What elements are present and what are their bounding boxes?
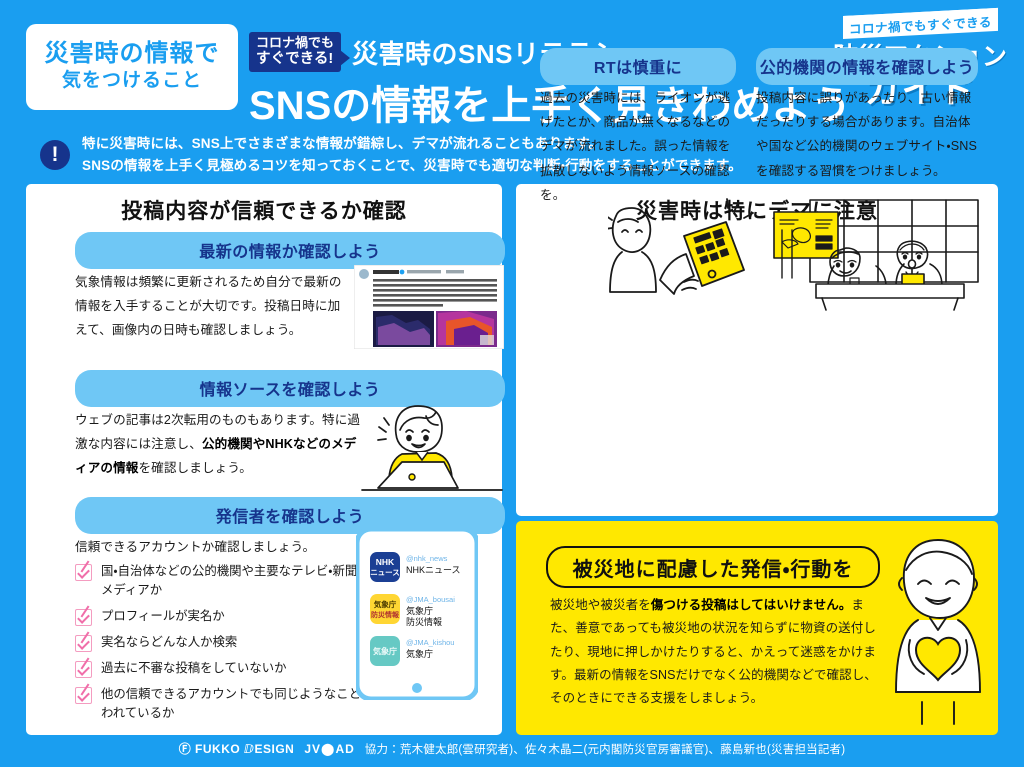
svg-text:@nhk_news: @nhk_news xyxy=(406,554,448,563)
checkbox-checked-icon[interactable] xyxy=(75,661,92,678)
sender-checklist: 国・自治体などの公的機関や主要なテレビ・新聞などのメディアか プロフィールが実名… xyxy=(75,562,395,729)
svg-text:防災情報: 防災情報 xyxy=(406,616,442,627)
svg-text:ニュース: ニュース xyxy=(370,568,400,577)
left-panel-title: 投稿内容が信頼できるか確認 xyxy=(26,184,502,225)
svg-text:@JMA_bousai: @JMA_bousai xyxy=(406,595,455,604)
svg-text:気象庁: 気象庁 xyxy=(406,648,433,659)
header-badge-line2: 気をつけること xyxy=(62,69,202,94)
checklist-item-label: 国・自治体などの公的機関や主要なテレビ・新聞などのメディアか xyxy=(101,562,395,600)
svg-text:NHKニュース: NHKニュース xyxy=(406,565,461,575)
person-at-laptop-illustration xyxy=(356,392,508,496)
yellow-panel-heading: 被災地に配慮した発信・行動を xyxy=(546,546,880,588)
yellow-panel-text: 被災地や被災者を傷つける投稿はしてはいけません。また、善意であっても被災地の状況… xyxy=(550,594,880,710)
tv-news-studio-illustration xyxy=(772,196,988,314)
section-lead-sender: 信頼できるアカウントか確認しましょう。 xyxy=(75,535,395,559)
checklist-item-label: 過去に不審な投稿をしていないか xyxy=(101,659,287,678)
tweet-screenshot xyxy=(354,265,504,349)
checkbox-checked-icon[interactable] xyxy=(75,564,92,581)
header-badge: 災害時の情報で 気をつけること xyxy=(26,24,238,110)
section-text-rt: 過去の災害時には、ライオンが逃げたとか、商品が無くなるなどのデマが流れました。誤… xyxy=(540,86,736,207)
yellow-text-part2: また、善意であっても被災地の状況を知らずに物資の送付したり、現地に押しかけたりす… xyxy=(550,598,877,705)
checklist-item[interactable]: 過去に不審な投稿をしていないか xyxy=(75,659,395,678)
checklist-item[interactable]: 国・自治体などの公的機関や主要なテレビ・新聞などのメディアか xyxy=(75,562,395,600)
person-with-heart-illustration xyxy=(888,532,988,728)
section-heading-rt: RTは慎重に xyxy=(540,48,736,85)
svg-text:NHK: NHK xyxy=(376,557,395,567)
section-heading-official: 公的機関の情報を確認しよう xyxy=(756,48,978,85)
svg-text:気象庁: 気象庁 xyxy=(406,605,433,616)
phone-accounts-mockup: NHK ニュース @nhk_news NHKニュース 気象庁 防災情報 @JMA… xyxy=(356,528,478,700)
section-heading-latest-info: 最新の情報か確認しよう xyxy=(75,232,505,269)
corona-tag-line2: すぐできる! xyxy=(256,51,334,67)
section-text-latest-info: 気象情報は頻繁に更新されるため自分で最新の情報を入手することが大切です。投稿日時… xyxy=(75,270,347,343)
exclamation-icon: ! xyxy=(40,140,70,170)
corona-tag: コロナ禍でも すぐできる! xyxy=(249,32,341,72)
svg-text:@JMA_kishou: @JMA_kishou xyxy=(406,638,454,647)
section-text-source-part2: を確認しましょう。 xyxy=(138,461,252,475)
yellow-text-part1: 被災地や被災者を xyxy=(550,598,651,612)
left-panel: 投稿内容が信頼できるか確認 最新の情報か確認しよう 気象情報は頻繁に更新されるた… xyxy=(26,184,502,735)
jvoad-logo: JV⬤AD xyxy=(304,742,354,756)
svg-text:気象庁: 気象庁 xyxy=(373,646,397,656)
checkbox-checked-icon[interactable] xyxy=(75,635,92,652)
header-badge-line1: 災害時の情報で xyxy=(45,40,220,68)
yellow-text-bold: 傷つける投稿はしてはいけません。 xyxy=(651,598,852,612)
footer-credit: 協力：荒木健太郎(雲研究者)、佐々木晶二(元内閣防災官房審議官)、藤島新也(災害… xyxy=(365,741,845,757)
brand-logo-strip: コロナ禍でもすぐできる xyxy=(843,8,998,39)
section-text-source: ウェブの記事は2次転用のものもあります。特に過激な内容には注意し、公的機関やNH… xyxy=(75,408,365,481)
corona-tag-line1: コロナ禍でも xyxy=(256,36,334,51)
checklist-item-label: 他の信頼できるアカウントでも同じようなことが言われているか xyxy=(101,685,395,723)
exclamation-mark: ! xyxy=(52,143,59,167)
checklist-item[interactable]: 他の信頼できるアカウントでも同じようなことが言われているか xyxy=(75,685,395,723)
section-text-official: 投稿内容に誤りがあったり、古い情報だったりする場合があります。自治体や国など公的… xyxy=(756,86,978,183)
fukko-design-logo: Ⓕ FUKKO ⅅESIGN xyxy=(179,740,295,757)
checklist-item-label: 実名ならどんな人か検索 xyxy=(101,633,237,652)
svg-text:防災情報: 防災情報 xyxy=(371,610,400,619)
checklist-item[interactable]: プロフィールが実名か xyxy=(75,607,395,626)
person-holding-phone-illustration xyxy=(608,196,756,314)
checkbox-checked-icon[interactable] xyxy=(75,687,92,704)
checkbox-checked-icon[interactable] xyxy=(75,609,92,626)
svg-text:気象庁: 気象庁 xyxy=(374,599,397,609)
footer: Ⓕ FUKKO ⅅESIGN JV⬤AD 協力：荒木健太郎(雲研究者)、佐々木晶… xyxy=(0,740,1024,757)
checklist-item-label: プロフィールが実名か xyxy=(101,607,225,626)
checklist-item[interactable]: 実名ならどんな人か検索 xyxy=(75,633,395,652)
